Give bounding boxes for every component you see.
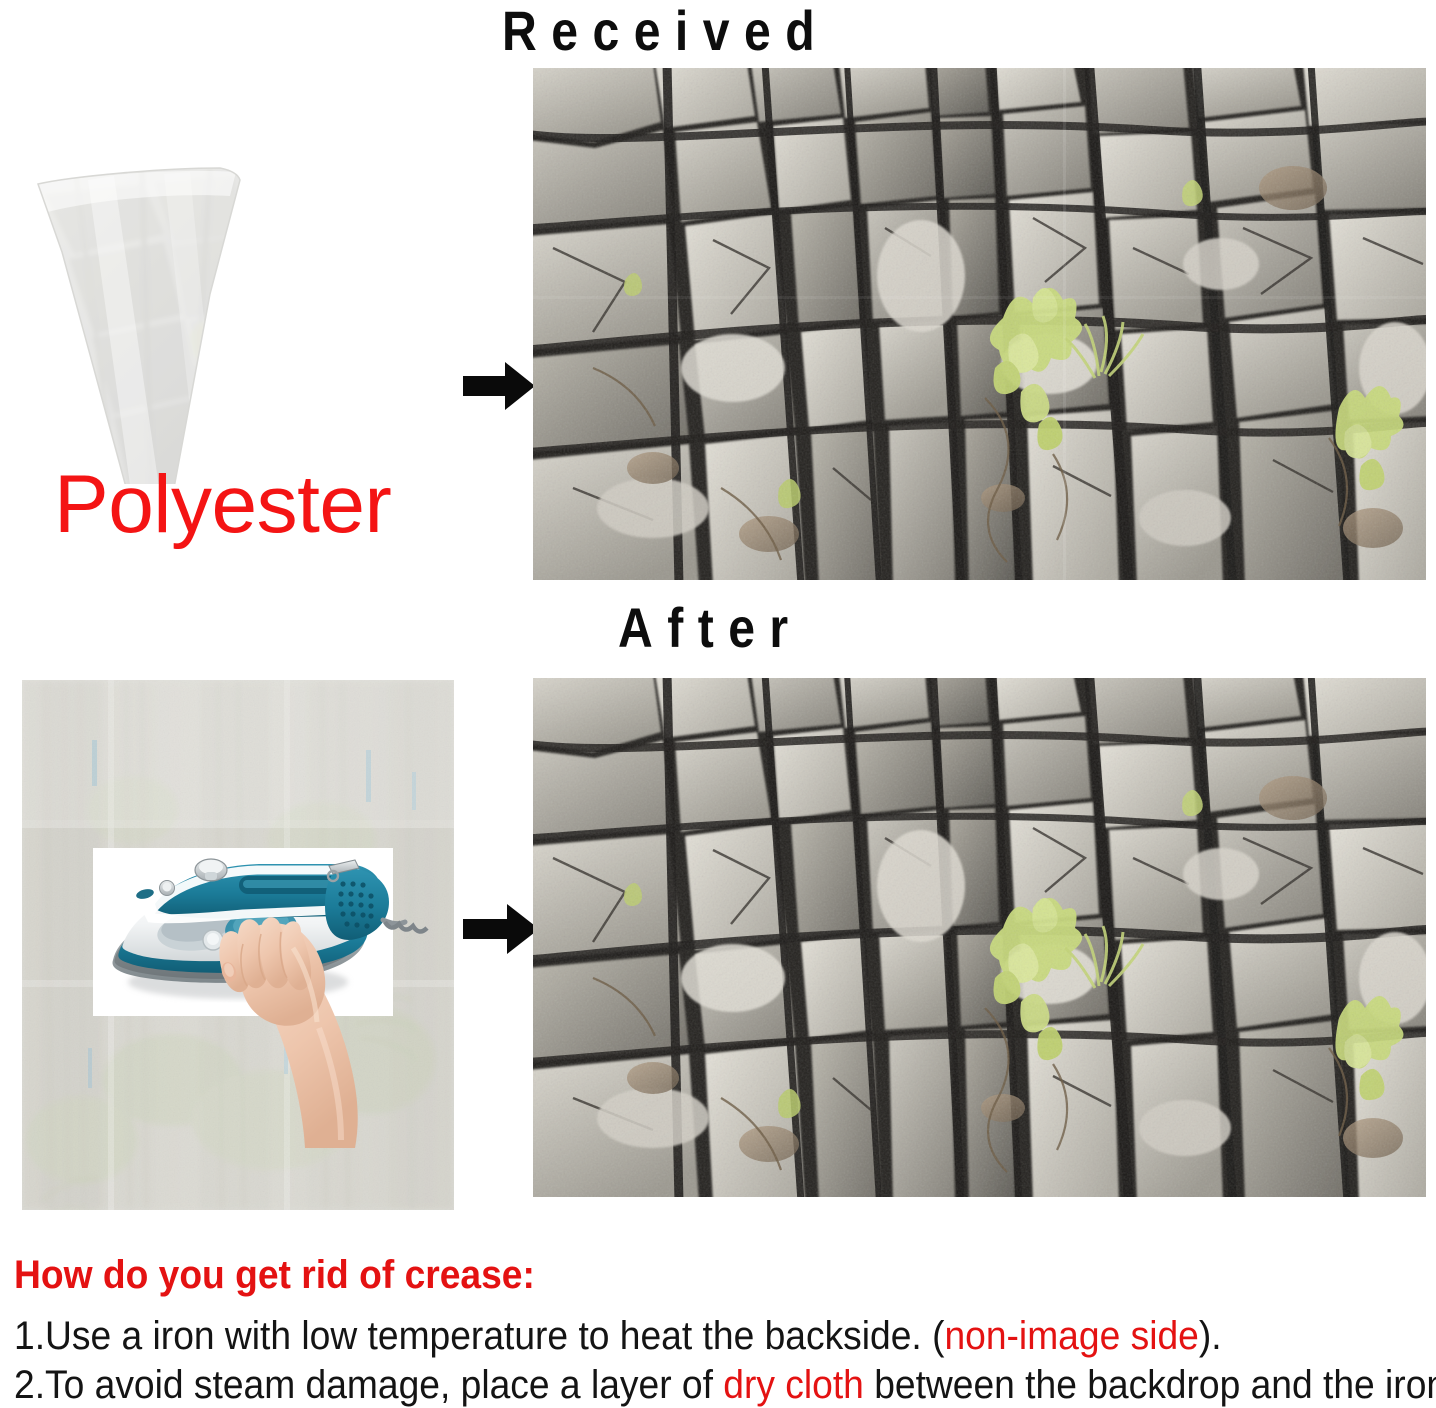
instruction-1-text-a: 1.Use a iron with low temperature to hea… <box>14 1314 944 1358</box>
instruction-line-2: 2.To avoid steam damage, place a layer o… <box>14 1364 1335 1407</box>
instruction-1-text-b: ). <box>1199 1314 1222 1358</box>
right-arrow-icon <box>461 359 537 413</box>
polyester-material-label: Polyester <box>54 464 391 546</box>
instruction-1-highlight: non-image side <box>944 1314 1198 1358</box>
after-section-title: After <box>618 600 803 656</box>
after-backdrop-photo <box>533 678 1426 1197</box>
instruction-line-1: 1.Use a iron with low temperature to hea… <box>14 1315 1335 1358</box>
instructions-heading: How do you get rid of crease: <box>14 1254 1335 1297</box>
folded-fabric-icon <box>14 84 434 484</box>
received-backdrop-photo <box>533 68 1426 580</box>
received-section-title: Received <box>502 3 829 59</box>
iron-product-photo <box>93 848 393 1016</box>
right-arrow-icon-after <box>461 900 541 958</box>
care-instructions-block: How do you get rid of crease: 1.Use a ir… <box>14 1254 1434 1408</box>
